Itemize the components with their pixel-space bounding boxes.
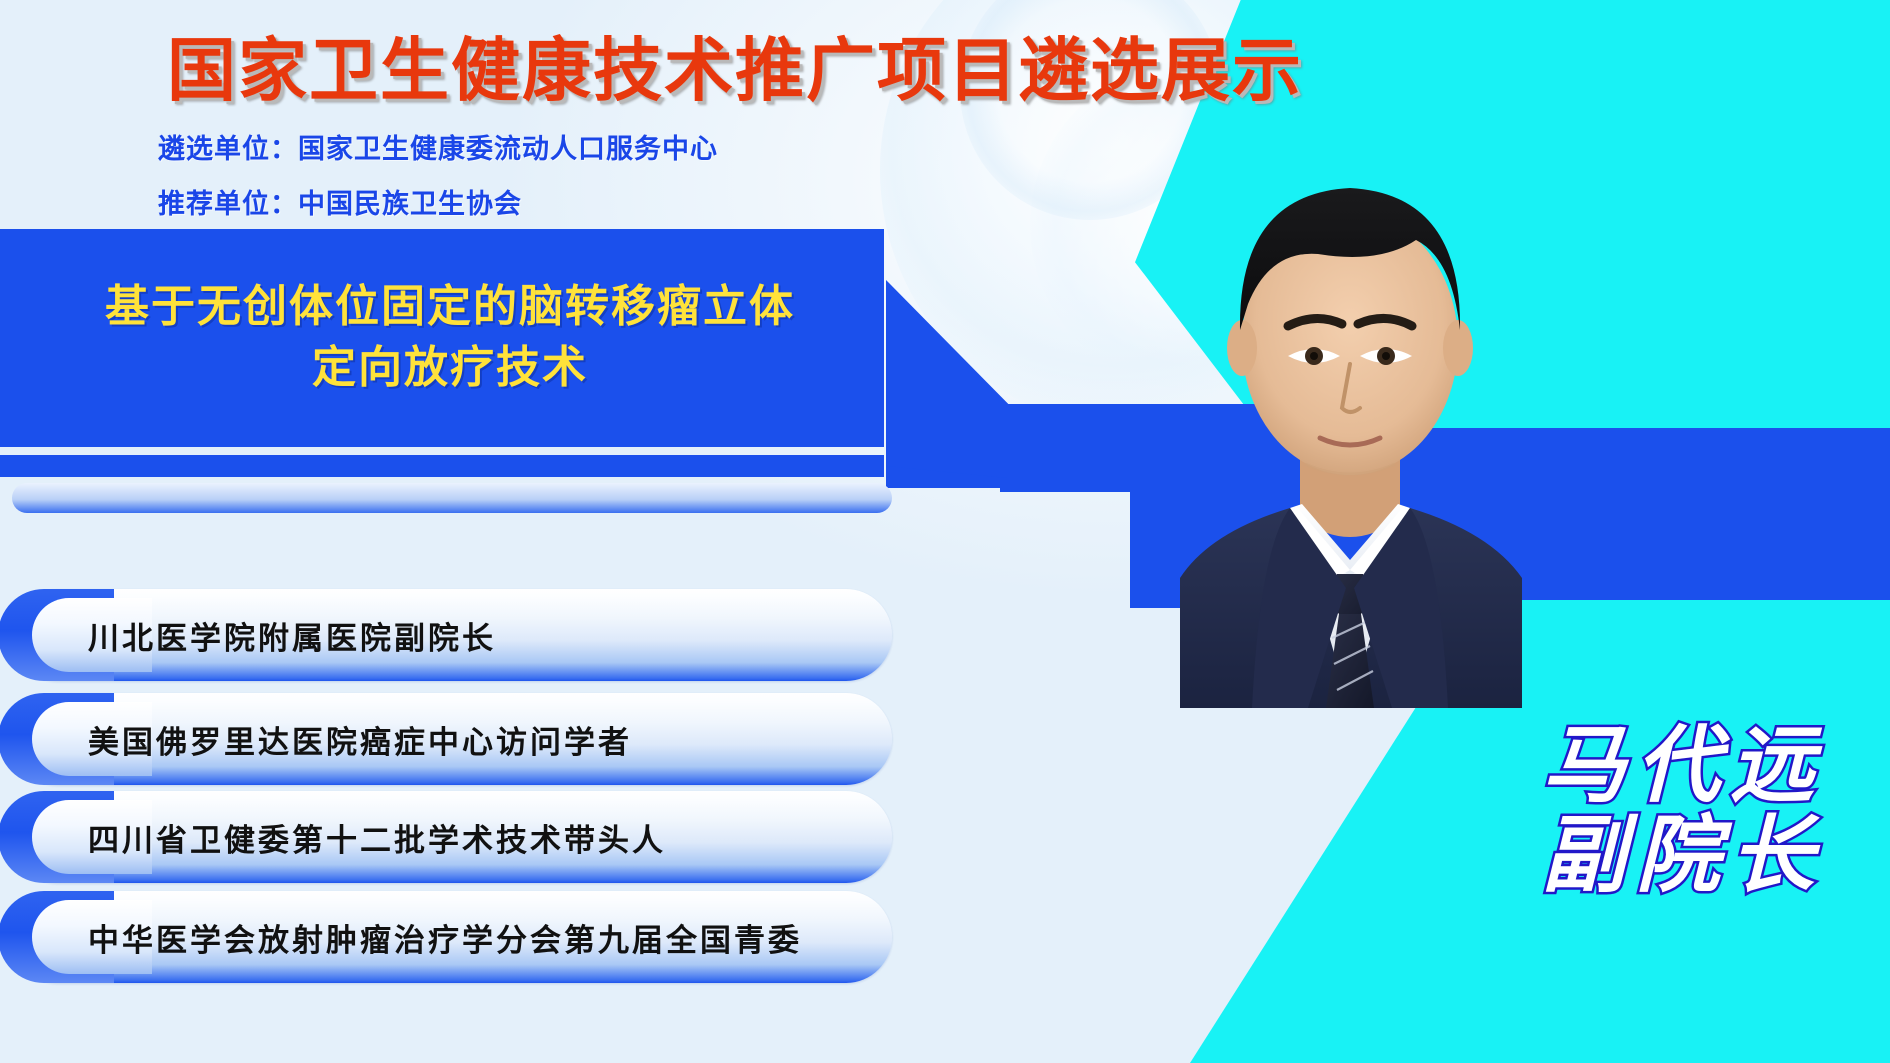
- presenter-name-block: 马代远 副院长: [1476, 722, 1890, 1002]
- project-title-line-1: 基于无创体位固定的脑转移瘤立体: [105, 277, 795, 338]
- presenter-role: 副院长: [1476, 812, 1890, 898]
- credential-text-3: 四川省卫健委第十二批学术技术带头人: [88, 791, 868, 883]
- page-title: 国家卫生健康技术推广项目遴选展示: [0, 14, 1470, 114]
- recommending-organization-line: 推荐单位：中国民族卫生协会: [158, 182, 522, 221]
- poster-canvas: 国家卫生健康技术推广项目遴选展示 遴选单位：国家卫生健康委流动人口服务中心 推荐…: [0, 0, 1890, 1063]
- credential-text-4: 中华医学会放射肿瘤治疗学分会第九届全国青委: [88, 891, 868, 983]
- credential-strip-decoration: [12, 483, 892, 513]
- panel-underline-bar: [0, 455, 884, 477]
- project-title-panel-content: 基于无创体位固定的脑转移瘤立体 定向放疗技术: [0, 229, 884, 447]
- list-item: 四川省卫健委第十二批学术技术带头人: [12, 791, 892, 883]
- credential-text-2: 美国佛罗里达医院癌症中心访问学者: [88, 693, 868, 785]
- presenter-portrait-photo: [1140, 108, 1560, 708]
- selection-organization-line: 遴选单位：国家卫生健康委流动人口服务中心: [158, 127, 718, 166]
- credential-text-1: 川北医学院附属医院副院长: [88, 589, 868, 681]
- project-title-line-2: 定向放疗技术: [312, 338, 588, 399]
- list-item: 中华医学会放射肿瘤治疗学分会第九届全国青委: [12, 891, 892, 983]
- project-title-panel: 基于无创体位固定的脑转移瘤立体 定向放疗技术: [0, 229, 884, 447]
- list-item: 美国佛罗里达医院癌症中心访问学者: [12, 693, 892, 785]
- presenter-name: 马代远: [1476, 722, 1890, 808]
- list-item: 川北医学院附属医院副院长: [12, 589, 892, 681]
